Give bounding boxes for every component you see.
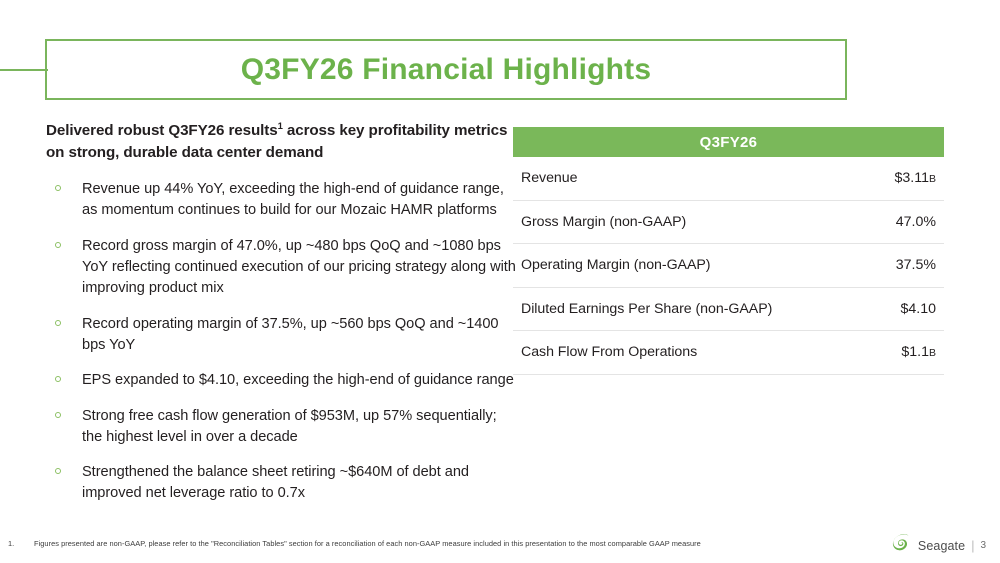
bullet-text: Strengthened the balance sheet retiring … — [82, 464, 469, 501]
page-number: 3 — [980, 540, 986, 551]
bullet-text: EPS expanded to $4.10, exceeding the hig… — [82, 372, 514, 388]
bullet-item: Strong free cash flow generation of $953… — [46, 406, 516, 449]
bullet-text: Strong free cash flow generation of $953… — [82, 408, 497, 445]
metric-value-unit: B — [929, 173, 936, 185]
metrics-table-header-label: Q3FY26 — [700, 134, 758, 151]
metric-label: Cash Flow From Operations — [521, 344, 697, 360]
metric-value-number: 37.5% — [896, 257, 936, 273]
metric-value-number: $1.1 — [901, 344, 929, 360]
table-row: Cash Flow From Operations$1.1B — [513, 331, 944, 375]
metrics-table-header: Q3FY26 — [513, 127, 944, 157]
metric-value: 37.5% — [896, 257, 936, 273]
seagate-logo-icon — [890, 532, 912, 559]
title-accent-rule — [0, 69, 48, 71]
brand-lockup: Seagate | 3 — [890, 532, 986, 559]
metric-value: $1.1B — [901, 344, 936, 360]
brand-name: Seagate — [918, 539, 965, 553]
page-title: Q3FY26 Financial Highlights — [241, 53, 651, 87]
bullet-item: Revenue up 44% YoY, exceeding the high-e… — [46, 179, 516, 222]
bullet-list: Revenue up 44% YoY, exceeding the high-e… — [46, 179, 516, 505]
metric-value-number: 47.0% — [896, 214, 936, 230]
metrics-table-body: Revenue$3.11BGross Margin (non-GAAP)47.0… — [513, 157, 944, 375]
table-row: Diluted Earnings Per Share (non-GAAP)$4.… — [513, 288, 944, 332]
metric-value-number: $4.10 — [900, 301, 936, 317]
highlights-column: Delivered robust Q3FY26 results1 across … — [46, 120, 516, 519]
table-row: Revenue$3.11B — [513, 157, 944, 201]
footnote-number: 1. — [8, 539, 22, 548]
footnote: 1. Figures presented are non-GAAP, pleas… — [8, 539, 701, 548]
metric-label: Diluted Earnings Per Share (non-GAAP) — [521, 301, 772, 317]
bullet-circle-icon — [55, 412, 61, 418]
metric-label: Revenue — [521, 170, 577, 186]
table-row: Gross Margin (non-GAAP)47.0% — [513, 201, 944, 245]
bullet-circle-icon — [55, 242, 61, 248]
bullet-item: Record operating margin of 37.5%, up ~56… — [46, 314, 516, 357]
metric-value: $3.11B — [895, 170, 936, 186]
metric-label: Gross Margin (non-GAAP) — [521, 214, 686, 230]
bullet-item: Strengthened the balance sheet retiring … — [46, 462, 516, 505]
bullet-item: Record gross margin of 47.0%, up ~480 bp… — [46, 236, 516, 300]
bullet-circle-icon — [55, 320, 61, 326]
metric-label: Operating Margin (non-GAAP) — [521, 257, 710, 273]
metric-value-unit: B — [929, 347, 936, 359]
bullet-item: EPS expanded to $4.10, exceeding the hig… — [46, 370, 516, 391]
bullet-text: Revenue up 44% YoY, exceeding the high-e… — [82, 181, 504, 218]
metric-value: 47.0% — [896, 214, 936, 230]
lead-statement: Delivered robust Q3FY26 results1 across … — [46, 120, 516, 163]
lead-statement-text-a: Delivered robust Q3FY26 results — [46, 122, 278, 139]
metrics-table: Q3FY26 Revenue$3.11BGross Margin (non-GA… — [513, 127, 944, 375]
bullet-text: Record operating margin of 37.5%, up ~56… — [82, 316, 499, 353]
metric-value: $4.10 — [900, 301, 936, 317]
footnote-text: Figures presented are non-GAAP, please r… — [34, 539, 701, 548]
bullet-circle-icon — [55, 185, 61, 191]
table-row: Operating Margin (non-GAAP)37.5% — [513, 244, 944, 288]
bullet-circle-icon — [55, 376, 61, 382]
metric-value-number: $3.11 — [895, 170, 929, 186]
brand-divider: | — [971, 539, 974, 553]
bullet-text: Record gross margin of 47.0%, up ~480 bp… — [82, 238, 516, 297]
title-box: Q3FY26 Financial Highlights — [45, 39, 847, 100]
bullet-circle-icon — [55, 468, 61, 474]
